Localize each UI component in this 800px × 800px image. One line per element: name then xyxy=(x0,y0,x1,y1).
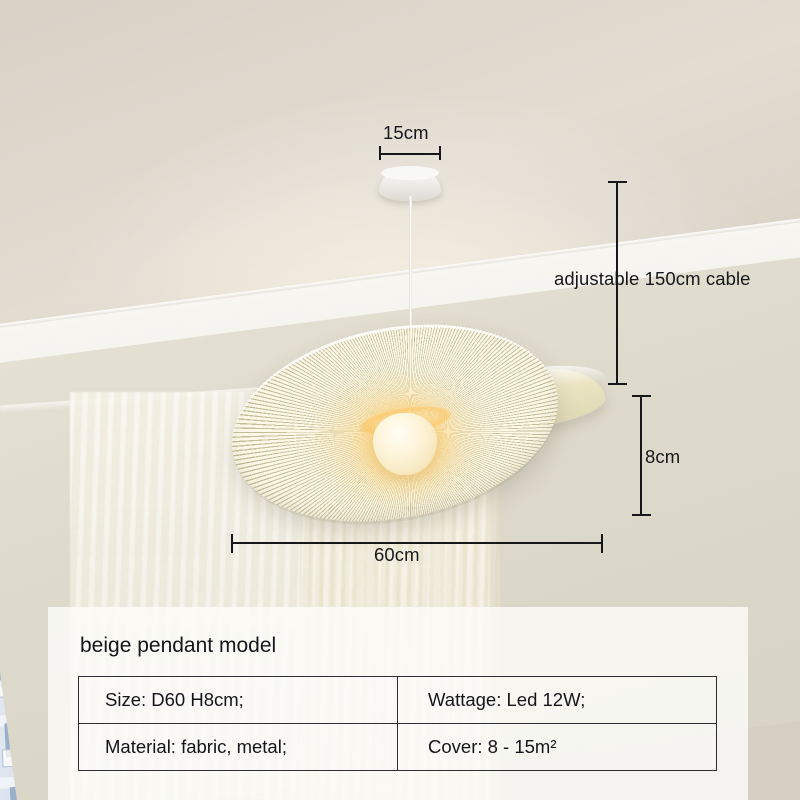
spec-wattage: Wattage: Led 12W; xyxy=(398,677,717,724)
dim-15cm-tick-left xyxy=(379,146,381,160)
canopy-top-highlight xyxy=(381,166,439,180)
dim-150cm-label: adjustable 150cm cable xyxy=(554,268,751,290)
dim-15cm-line xyxy=(379,153,441,155)
product-info-panel: beige pendant model Size: D60 H8cm; Watt… xyxy=(48,607,748,800)
spec-table: Size: D60 H8cm; Wattage: Led 12W; Materi… xyxy=(78,676,717,771)
dim-8cm-line xyxy=(640,396,642,516)
dim-60cm-tick-left xyxy=(231,534,233,553)
dim-150cm-tick-bottom xyxy=(608,383,627,385)
dim-150cm-tick-top xyxy=(608,181,627,183)
table-row: Material: fabric, metal; Cover: 8 - 15m² xyxy=(79,724,717,771)
dim-8cm-tick-bottom xyxy=(632,514,651,516)
dim-60cm-tick-right xyxy=(601,534,603,553)
product-photo-scene: 15cm adjustable 150cm cable 8cm 60cm bei… xyxy=(0,0,800,800)
dim-15cm-tick-right xyxy=(439,146,441,160)
spec-size: Size: D60 H8cm; xyxy=(79,677,398,724)
spec-cover: Cover: 8 - 15m² xyxy=(398,724,717,771)
spec-material: Material: fabric, metal; xyxy=(79,724,398,771)
product-title: beige pendant model xyxy=(80,634,276,658)
dim-60cm-label: 60cm xyxy=(374,544,420,566)
dim-15cm-label: 15cm xyxy=(383,122,429,144)
dim-8cm-tick-top xyxy=(632,395,651,397)
table-row: Size: D60 H8cm; Wattage: Led 12W; xyxy=(79,677,717,724)
dim-8cm-label: 8cm xyxy=(645,446,680,468)
